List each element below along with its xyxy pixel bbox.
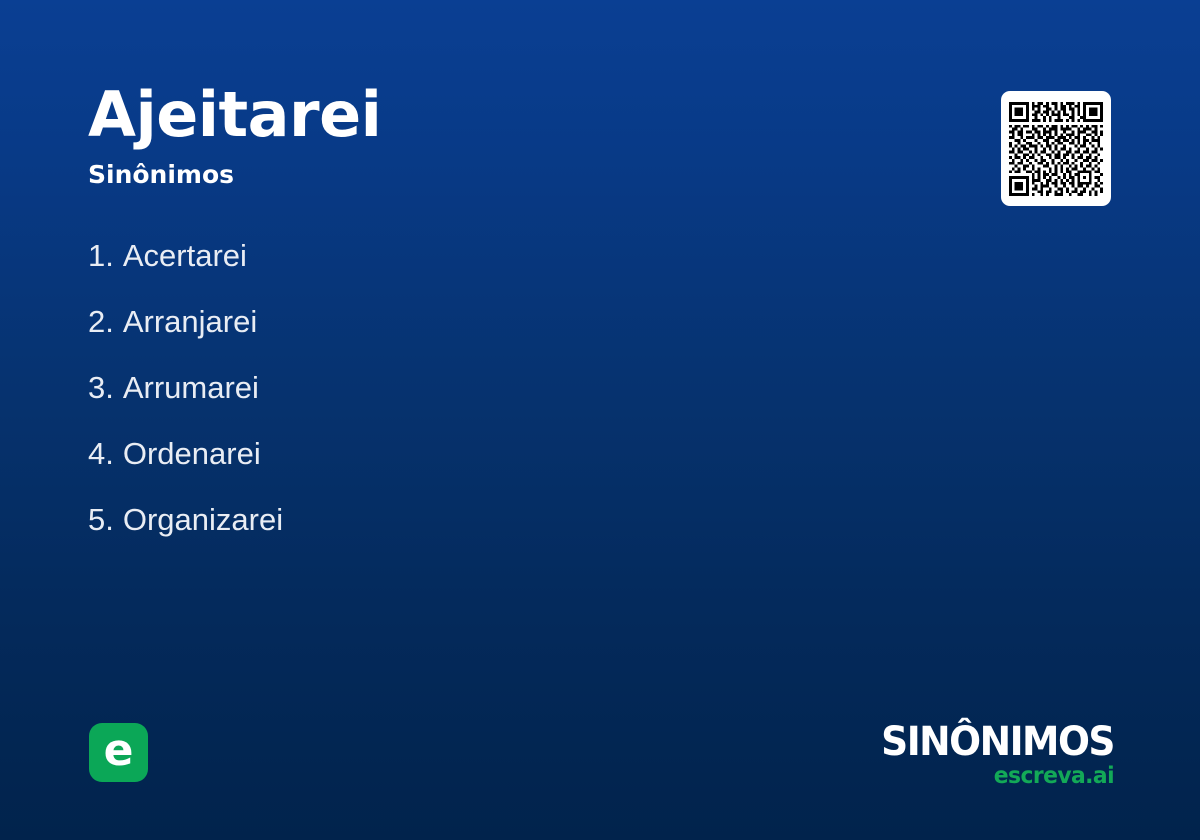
page-subtitle: Sinônimos — [88, 160, 788, 189]
escreva-logo-badge[interactable]: e — [89, 723, 148, 782]
brand-name: SINÔNIMOS — [870, 722, 1114, 762]
list-item-label: Arranjarei — [123, 302, 257, 342]
list-item-label: Organizarei — [123, 500, 283, 540]
list-item-index: 5. — [88, 500, 114, 540]
brand-lockup[interactable]: SINÔNIMOS escreva.ai — [854, 722, 1114, 788]
list-item: 3.Arrumarei — [88, 368, 848, 434]
brand-domain: escreva.ai — [867, 765, 1114, 788]
page-title: Ajeitarei — [88, 84, 788, 146]
card-header: Ajeitarei Sinônimos — [88, 84, 788, 189]
list-item-index: 2. — [88, 302, 114, 342]
synonym-list: 1.Acertarei 2.Arranjarei 3.Arrumarei 4.O… — [88, 236, 848, 566]
escreva-e-letter: e — [104, 729, 134, 773]
synonym-card: Ajeitarei Sinônimos 1.Acertarei 2.Arranj… — [0, 0, 1200, 840]
list-item-label: Arrumarei — [123, 368, 259, 408]
qr-code-svg — [1009, 102, 1103, 196]
list-item: 4.Ordenarei — [88, 434, 848, 500]
list-item-label: Ordenarei — [123, 434, 261, 474]
list-item-index: 4. — [88, 434, 114, 474]
list-item: 1.Acertarei — [88, 236, 848, 302]
list-item: 5.Organizarei — [88, 500, 848, 566]
qr-code-icon[interactable] — [1001, 91, 1111, 206]
list-item-index: 3. — [88, 368, 114, 408]
list-item-index: 1. — [88, 236, 114, 276]
list-item-label: Acertarei — [123, 236, 247, 276]
list-item: 2.Arranjarei — [88, 302, 848, 368]
